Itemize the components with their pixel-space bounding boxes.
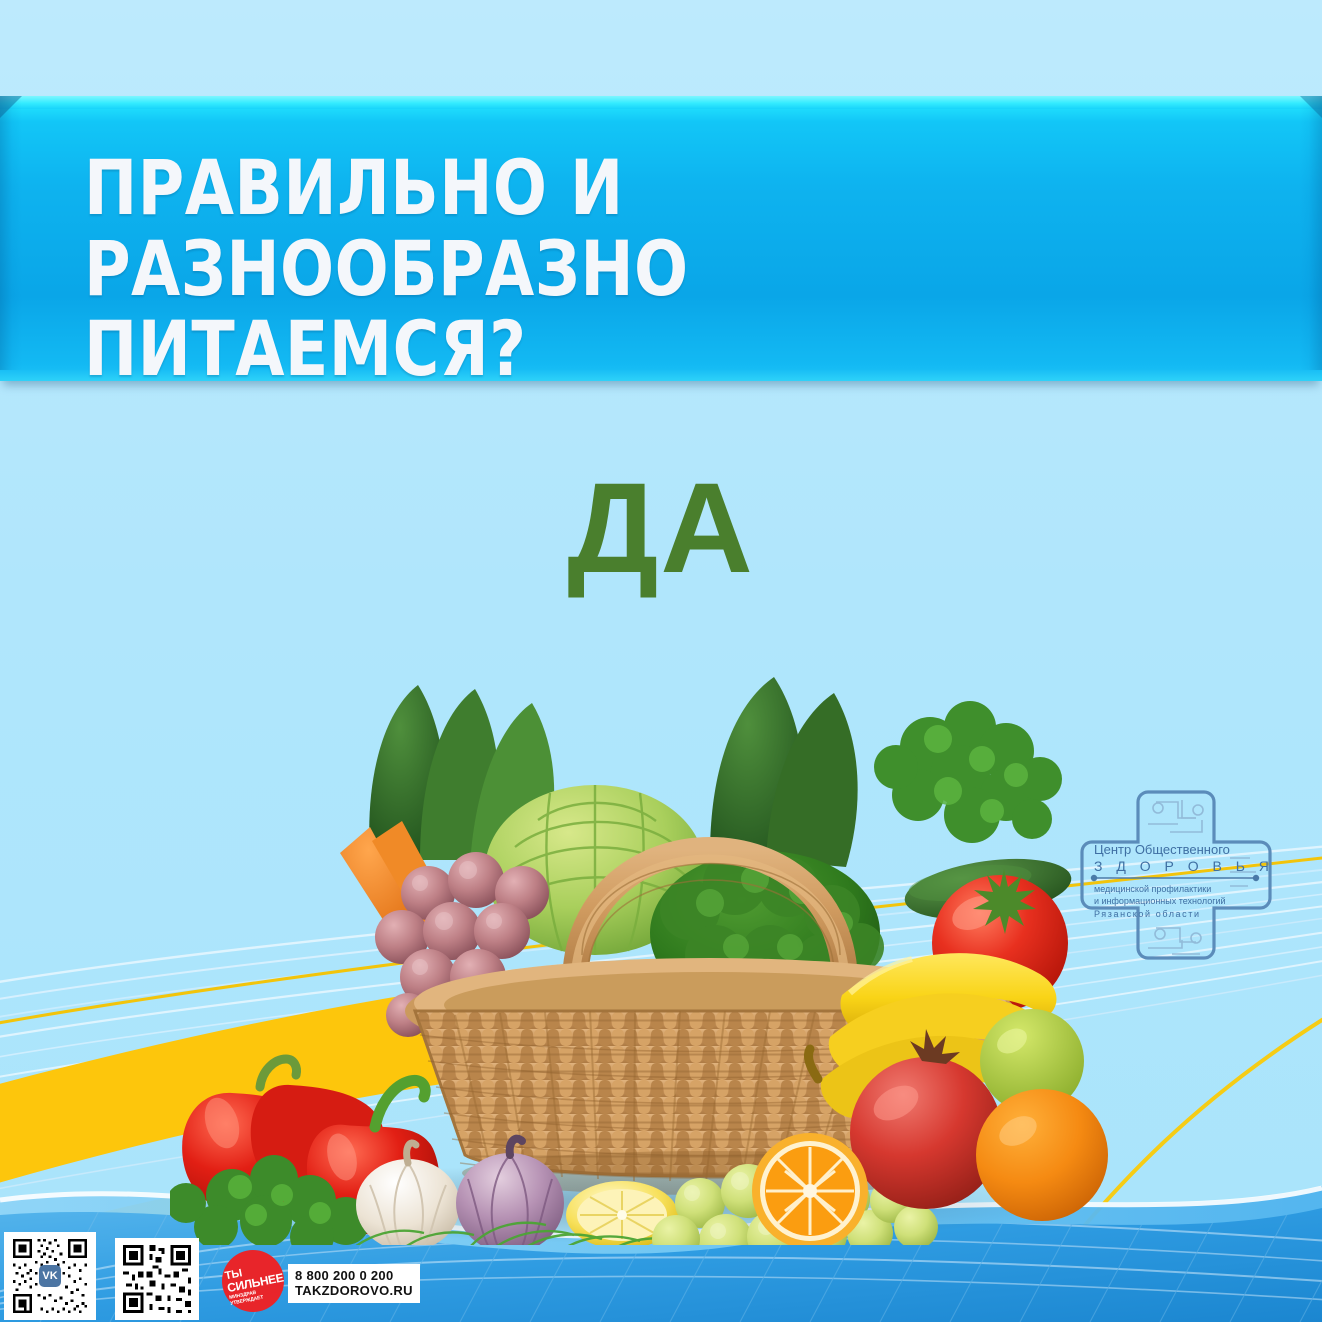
logo-line-4: и информационных технологий [1094, 896, 1226, 906]
campaign-badge[interactable]: ТЫ СИЛЬНЕЕ МИНЗДРАВ УТВЕРЖДАЕТ [222, 1250, 284, 1312]
takzdorovo-block: ТЫ СИЛЬНЕЕ МИНЗДРАВ УТВЕРЖДАЕТ 8 800 200… [222, 1248, 397, 1314]
answer-text: ДА [0, 465, 1322, 593]
orange-half [752, 1133, 868, 1245]
logo-line-5: Рязанской области [1094, 909, 1201, 919]
banner-corner-topright [1300, 96, 1322, 118]
logo-line-2: З Д О Р О В Ь Я [1094, 858, 1274, 874]
title-banner: ПРАВИЛЬНО И РАЗНООБРАЗНО ПИТАЕМСЯ? [0, 96, 1322, 381]
banner-bevel-top [0, 96, 1322, 109]
page-title: ПРАВИЛЬНО И РАЗНООБРАЗНО ПИТАЕМСЯ? [84, 148, 1107, 390]
qr-code-vk[interactable]: VK [4, 1232, 96, 1320]
orange-whole [976, 1089, 1108, 1221]
qr-code-secondary[interactable] [115, 1238, 199, 1320]
banner-bevel-left [0, 96, 22, 381]
logo-cross-shape [1082, 792, 1270, 958]
banner-bevel-right [1300, 96, 1322, 381]
vk-icon: VK [39, 1265, 61, 1287]
organisation-logo: Центр Общественного З Д О Р О В Ь Я меди… [1078, 788, 1274, 964]
campaign-badge-text: ТЫ СИЛЬНЕЕ МИНЗДРАВ УТВЕРЖДАЕТ [224, 1260, 284, 1307]
qr-secondary-graphic [119, 1242, 195, 1316]
logo-line-3: медицинской профилактики [1094, 884, 1211, 894]
banner-corner-topleft [0, 96, 22, 118]
contact-info: 8 800 200 0 200 TAKZDOROVO.RU [288, 1264, 420, 1303]
food-basket-photo [170, 655, 1110, 1245]
logo-circuit-pattern [1148, 800, 1256, 954]
parsley-top [874, 701, 1062, 843]
poster-root: ПРАВИЛЬНО И РАЗНООБРАЗНО ПИТАЕМСЯ? ДА [0, 0, 1322, 1322]
logo-line-1: Центр Общественного [1094, 842, 1230, 857]
